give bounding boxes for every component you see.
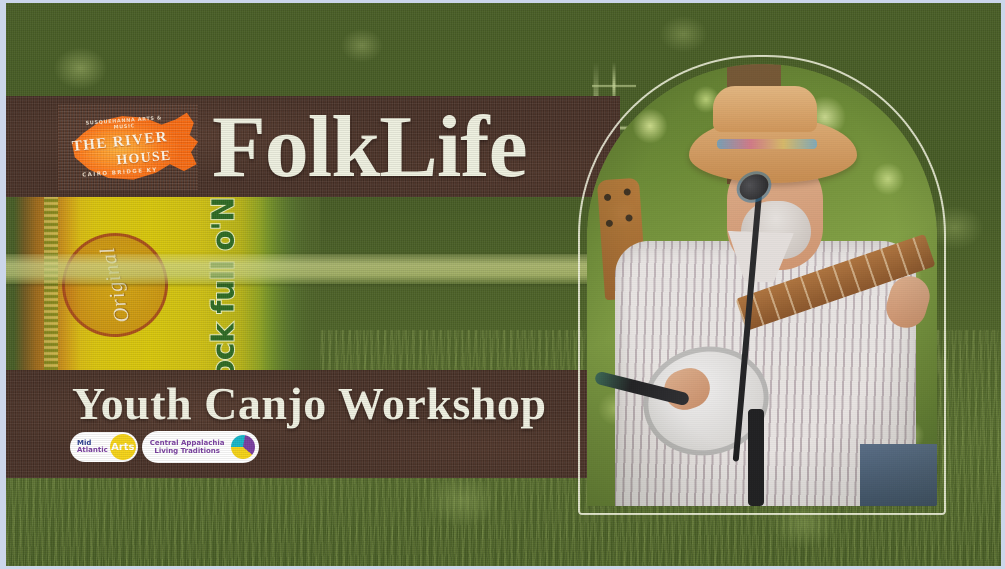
canjo-neck-stripe [0,254,600,284]
poster-canvas: Original Chock full o'Nuts SUSQUEHANNA A… [0,0,1005,569]
straw-hat-crown [713,86,817,132]
sponsor-logos: Mid Atlantic Arts Central Appalachia Liv… [70,431,259,463]
calt-pie-icon [229,433,257,461]
calt-line2: Living Traditions [150,447,225,456]
hat-band [717,139,817,149]
page-title: FolkLife [212,102,527,194]
musician-photo [587,64,937,506]
maa-disc-label: Arts [111,442,134,453]
maa-disc-icon: Arts [110,434,136,460]
photo-frame [578,55,946,515]
mic-stand-base [748,409,764,506]
central-appalachia-living-traditions-logo: Central Appalachia Living Traditions [142,431,259,463]
maa-line2: Atlantic [77,447,108,455]
river-house-logo: SUSQUEHANNA ARTS & MUSIC THE RIVER HOUSE… [58,104,198,190]
jeans [860,444,937,506]
event-title: Youth Canjo Workshop [72,378,546,430]
calt-line1: Central Appalachia [150,439,225,448]
mid-atlantic-arts-logo: Mid Atlantic Arts [70,432,138,462]
